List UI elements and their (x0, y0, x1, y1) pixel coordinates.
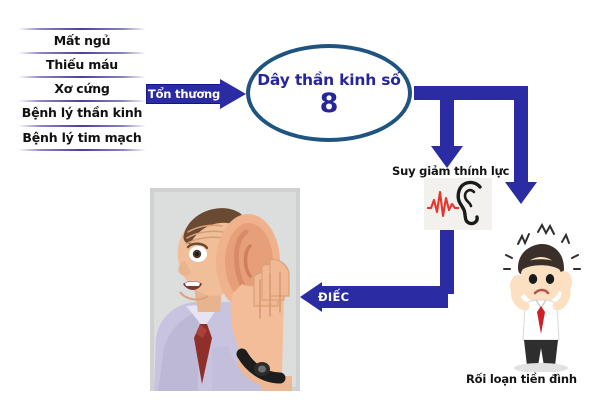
list-separator (18, 149, 146, 151)
deafness-arrow-label: ĐIẾC (318, 287, 408, 307)
arrow-head-down-icon (505, 182, 537, 204)
list-item: Xơ cứng (18, 78, 146, 100)
center-node: Dây thần kinh số 8 (246, 44, 412, 142)
vertigo-label: Rối loạn tiền đình (466, 372, 577, 386)
connector-trunk-horizontal (414, 86, 528, 100)
connector-branch-vertigo (514, 100, 528, 184)
list-item: Bệnh lý tim mạch (18, 127, 146, 149)
cause-arrow-label: Tổn thương (146, 84, 222, 104)
center-node-line1: Dây thần kinh số (250, 71, 408, 89)
dizzy-man-icon (492, 222, 588, 372)
symptom-list: Mất ngủ Thiếu máu Xơ cứng Bệnh lý thần k… (18, 28, 146, 151)
connector-branch-hearing (440, 100, 454, 148)
list-item: Mất ngủ (18, 30, 146, 52)
center-node-line2: 8 (250, 90, 408, 117)
cause-arrow: Tổn thương (146, 79, 246, 109)
ear-icon (424, 178, 492, 230)
arrow-head-right-icon (220, 79, 246, 109)
deaf-man-photo (150, 188, 300, 391)
diagram-canvas: Mất ngủ Thiếu máu Xơ cứng Bệnh lý thần k… (0, 0, 600, 400)
list-item: Thiếu máu (18, 54, 146, 76)
hearing-loss-label: Suy giảm thính lực (392, 164, 509, 178)
list-item: Bệnh lý thần kinh (18, 102, 146, 124)
connector-return-vertical (440, 230, 454, 294)
